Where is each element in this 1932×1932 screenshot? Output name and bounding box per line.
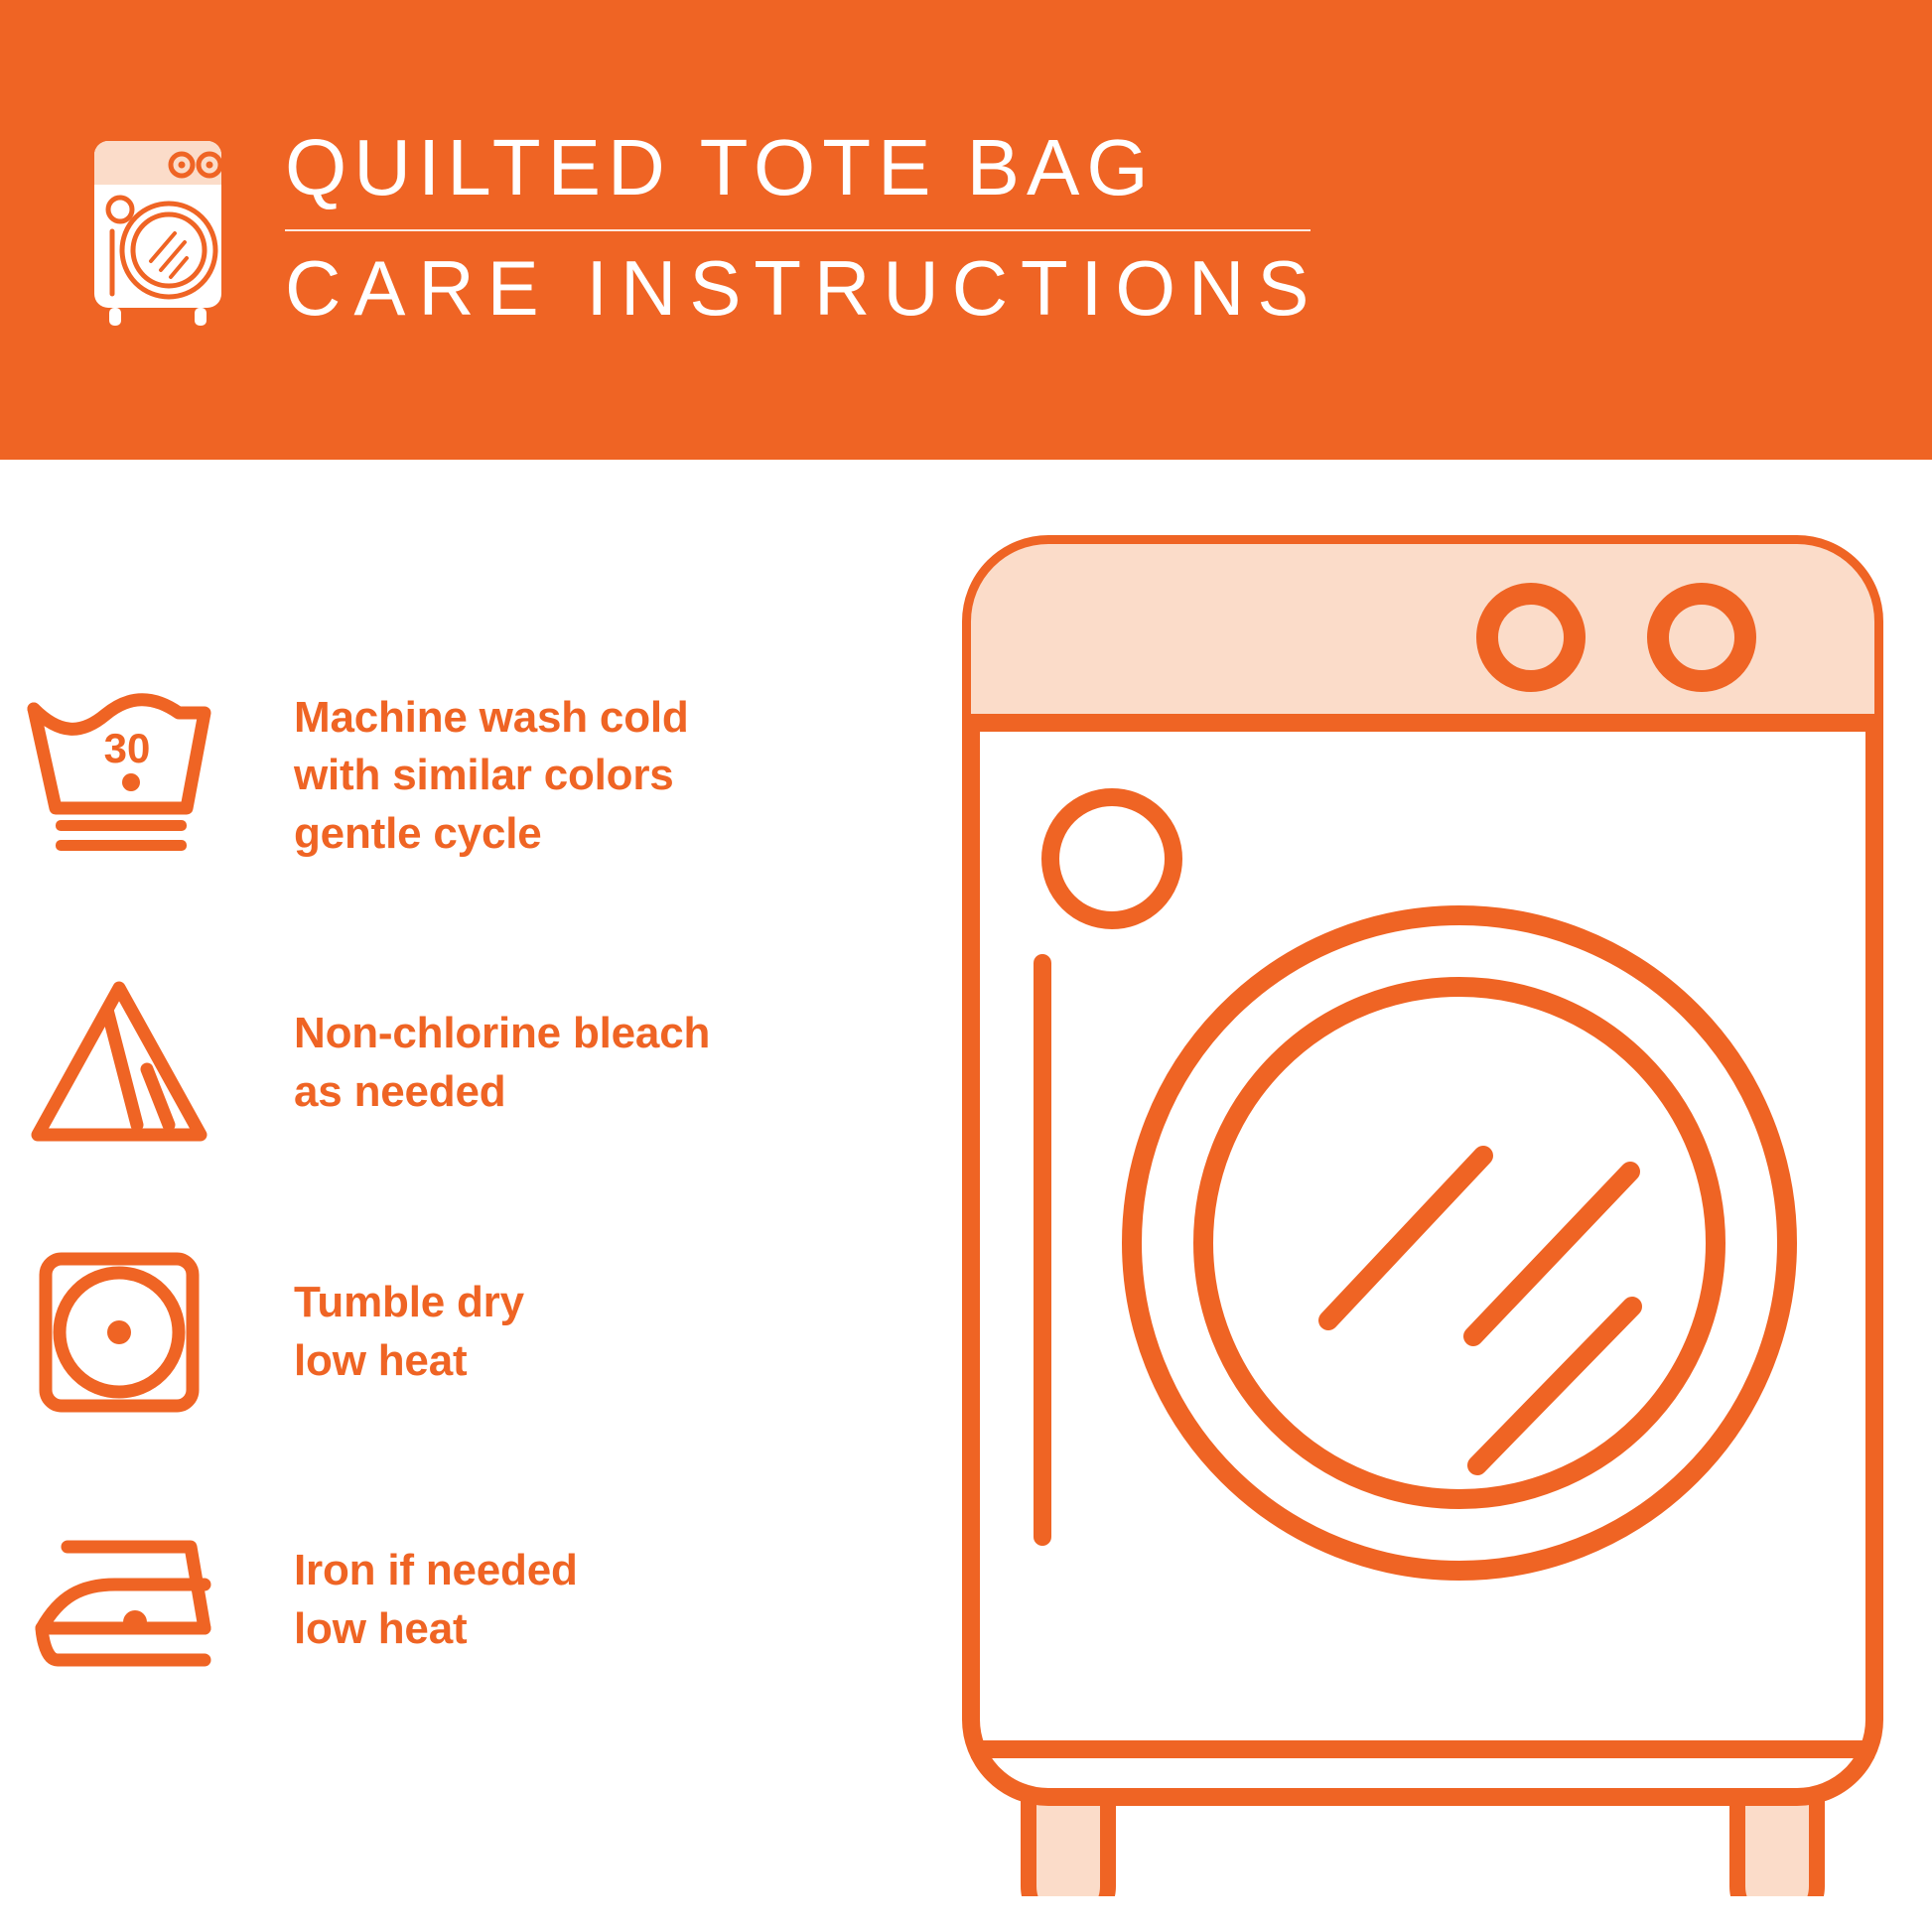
care-label: Iron if needed low heat [238,1542,578,1657]
list-item: 30 Machine wash cold with similar colors… [0,674,933,878]
iron-low-heat-icon [0,1498,238,1702]
care-label: Machine wash cold with similar colors ge… [238,689,689,862]
front-load-washing-machine-illustration [953,486,1906,1896]
wash-tub-30-icon: 30 [0,674,238,878]
svg-text:30: 30 [104,725,151,771]
care-instructions-page: QUILTED TOTE BAG CARE INSTRUCTIONS 30 [0,0,1932,1932]
care-label: Non-chlorine bleach as needed [238,1005,710,1120]
washing-machine-logo-icon [87,135,236,326]
title-divider [285,229,1311,231]
care-label: Tumble dry low heat [238,1274,524,1389]
header-banner: QUILTED TOTE BAG CARE INSTRUCTIONS [0,0,1932,460]
page-subtitle: CARE INSTRUCTIONS [285,249,1327,329]
instructions-list: 30 Machine wash cold with similar colors… [0,460,933,1932]
non-chlorine-bleach-triangle-icon [0,961,238,1165]
list-item: Tumble dry low heat [0,1230,933,1434]
tumble-dry-low-icon [0,1230,238,1434]
header-text-block: QUILTED TOTE BAG CARE INSTRUCTIONS [285,127,1327,328]
list-item: Non-chlorine bleach as needed [0,961,933,1165]
page-title: QUILTED TOTE BAG [285,127,1327,208]
list-item: Iron if needed low heat [0,1498,933,1702]
